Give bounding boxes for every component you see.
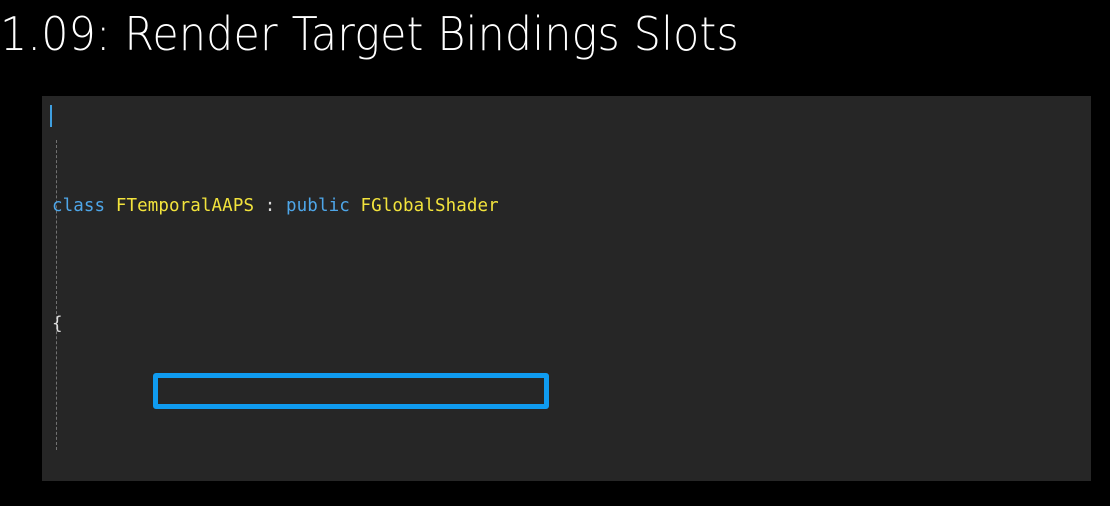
code-content: class FTemporalAAPS : public FGlobalShad…	[42, 103, 1091, 481]
keyword-public: public	[286, 196, 350, 216]
open-brace: {	[52, 314, 63, 334]
slide-root: 1.09: Render Target Bindings Slots class…	[0, 0, 1110, 506]
code-line: class FTemporalAAPS : public FGlobalShad…	[42, 192, 1091, 222]
space	[350, 196, 361, 216]
base-class-name: FGlobalShader	[361, 196, 499, 216]
space	[105, 196, 116, 216]
page-title: 1.09: Render Target Bindings Slots	[0, 1, 1014, 71]
code-line-blank	[42, 429, 1091, 459]
class-name: FTemporalAAPS	[116, 196, 254, 216]
inheritance-colon: :	[254, 196, 286, 216]
keyword-class: class	[52, 196, 105, 216]
code-line: {	[42, 310, 1091, 340]
code-editor-panel[interactable]: class FTemporalAAPS : public FGlobalShad…	[42, 96, 1091, 481]
